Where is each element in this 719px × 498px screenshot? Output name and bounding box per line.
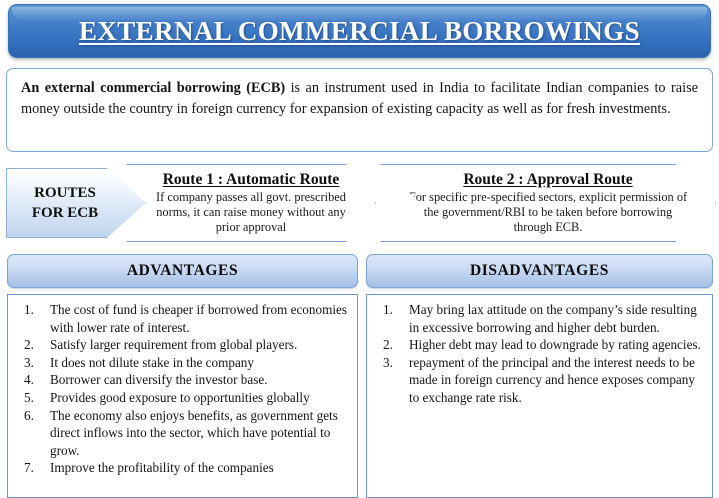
advantages-list: 1.The cost of fund is cheaper if borrowe… (14, 301, 349, 477)
advantage-item-text: The cost of fund is cheaper if borrowed … (50, 301, 349, 336)
title-banner: EXTERNAL COMMERCIAL BORROWINGS (8, 4, 711, 58)
disadvantage-item-number: 1. (373, 301, 409, 336)
route-2-chevron: Route 2 : Approval Route For specific pr… (380, 164, 716, 242)
advantage-item-text: Satisfy larger requirement from global p… (50, 336, 349, 354)
routes-row: ROUTES FOR ECB Route 1 : Automatic Route… (0, 160, 719, 246)
list-item: 1.The cost of fund is cheaper if borrowe… (14, 301, 349, 336)
advantage-item-text: The economy also enjoys benefits, as gov… (50, 407, 349, 460)
advantage-item-number: 3. (14, 354, 50, 372)
list-item: 3.It does not dilute stake in the compan… (14, 354, 349, 372)
disadvantage-item-text: Higher debt may lead to downgrade by rat… (409, 336, 704, 354)
advantage-item-number: 1. (14, 301, 50, 336)
list-item: 2.Satisfy larger requirement from global… (14, 336, 349, 354)
disadvantages-list: 1.May bring lax attitude on the company’… (373, 301, 704, 407)
route-2-description: For specific pre-specified sectors, expl… (381, 190, 715, 235)
route-1-description: If company passes all govt. prescribed n… (127, 190, 375, 235)
routes-badge-label: ROUTES FOR ECB (21, 183, 109, 223)
disadvantage-item-text: repayment of the principal and the inter… (409, 354, 704, 407)
route-1-chevron: Route 1 : Automatic Route If company pas… (126, 164, 376, 242)
disadvantage-item-number: 3. (373, 354, 409, 407)
disadvantages-list-box: 1.May bring lax attitude on the company’… (366, 294, 713, 498)
disadvantages-header-label: DISADVANTAGES (470, 262, 609, 280)
list-item: 3.repayment of the principal and the int… (373, 354, 704, 407)
routes-badge: ROUTES FOR ECB (6, 168, 146, 238)
advantages-header-label: ADVANTAGES (127, 262, 238, 280)
list-item: 2.Higher debt may lead to downgrade by r… (373, 336, 704, 354)
disadvantage-item-text: May bring lax attitude on the company’s … (409, 301, 704, 336)
list-item: 1.May bring lax attitude on the company’… (373, 301, 704, 336)
disadvantage-item-number: 2. (373, 336, 409, 354)
advantage-item-number: 4. (14, 371, 50, 389)
page-title: EXTERNAL COMMERCIAL BORROWINGS (79, 16, 640, 47)
advantage-item-number: 5. (14, 389, 50, 407)
advantage-item-number: 2. (14, 336, 50, 354)
disadvantages-header: DISADVANTAGES (366, 254, 713, 288)
advantage-item-text: It does not dilute stake in the company (50, 354, 349, 372)
advantage-item-text: Provides good exposure to opportunities … (50, 389, 349, 407)
list-item: 5.Provides good exposure to opportunitie… (14, 389, 349, 407)
definition-text: An external commercial borrowing (ECB) i… (21, 78, 698, 120)
definition-box: An external commercial borrowing (ECB) i… (6, 68, 713, 152)
route-1-title: Route 1 : Automatic Route (163, 171, 340, 189)
advantage-item-text: Improve the profitability of the compani… (50, 459, 349, 477)
infographic-page: EXTERNAL COMMERCIAL BORROWINGS An extern… (0, 0, 719, 498)
list-item: 7.Improve the profitability of the compa… (14, 459, 349, 477)
list-item: 4.Borrower can diversify the investor ba… (14, 371, 349, 389)
advantage-item-text: Borrower can diversify the investor base… (50, 371, 349, 389)
advantages-list-box: 1.The cost of fund is cheaper if borrowe… (7, 294, 358, 498)
route-2-title: Route 2 : Approval Route (463, 171, 632, 189)
advantage-item-number: 6. (14, 407, 50, 460)
advantages-header: ADVANTAGES (7, 254, 358, 288)
list-item: 6.The economy also enjoys benefits, as g… (14, 407, 349, 460)
advantage-item-number: 7. (14, 459, 50, 477)
definition-lead: An external commercial borrowing (ECB) (21, 80, 285, 96)
